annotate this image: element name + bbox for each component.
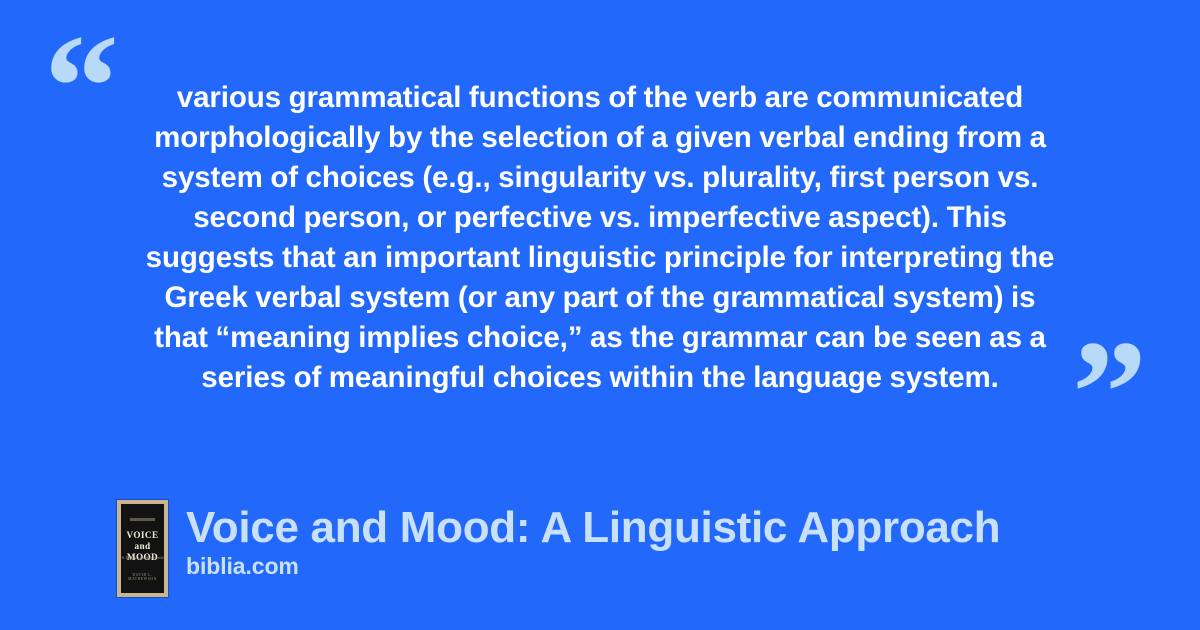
book-cover-title-line-1: VOICE xyxy=(121,530,164,541)
quote-line: series of meaningful choices within the … xyxy=(110,358,1090,398)
quote-card: “ various grammatical functions of the v… xyxy=(0,0,1200,630)
quote-line: morphologically by the selection of a gi… xyxy=(110,118,1090,158)
quote-line: various grammatical functions of the ver… xyxy=(110,78,1090,118)
quote-line: Greek verbal system (or any part of the … xyxy=(110,278,1090,318)
opening-quote-icon: “ xyxy=(44,12,117,162)
closing-quote-icon: ” xyxy=(1072,318,1145,468)
book-cover-inner-panel: VOICE and MOOD A Linguistic Approach DAV… xyxy=(121,504,164,593)
book-title: Voice and Mood: A Linguistic Approach xyxy=(186,505,1000,551)
quote-line: that “meaning implies choice,” as the gr… xyxy=(110,318,1090,358)
quote-line: suggests that an important linguistic pr… xyxy=(110,238,1090,278)
book-cover-author: DAVID L. MATHEWSON xyxy=(121,573,164,581)
quote-text: various grammatical functions of the ver… xyxy=(110,78,1090,398)
book-cover-thumbnail: VOICE and MOOD A Linguistic Approach DAV… xyxy=(117,500,168,597)
book-cover-subtitle: A Linguistic Approach xyxy=(121,555,164,560)
quote-line: system of choices (e.g., singularity vs.… xyxy=(110,158,1090,198)
site-name: biblia.com xyxy=(186,553,1000,579)
book-cover-rule xyxy=(130,518,155,521)
quote-line: second person, or perfective vs. imperfe… xyxy=(110,198,1090,238)
footer-text-block: Voice and Mood: A Linguistic Approach bi… xyxy=(186,500,1000,579)
footer: VOICE and MOOD A Linguistic Approach DAV… xyxy=(117,500,1000,597)
